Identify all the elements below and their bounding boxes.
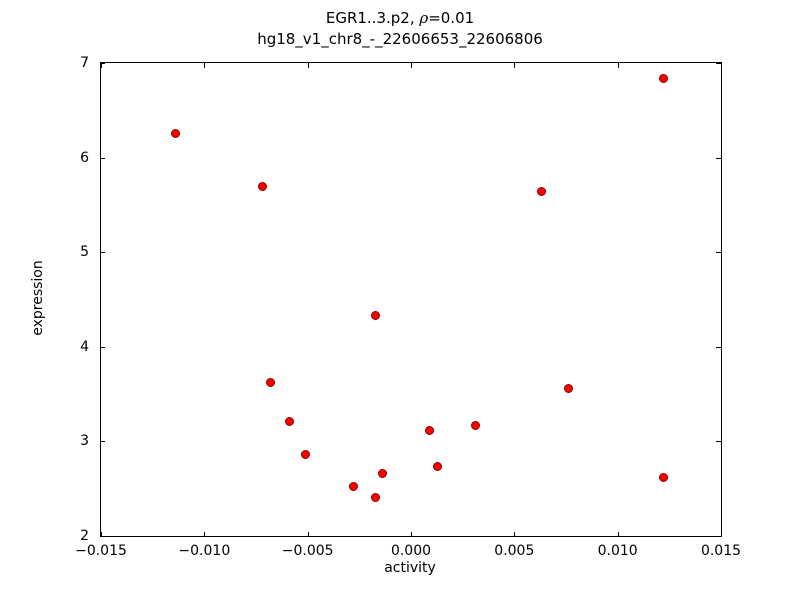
y-axis-tick [100,158,105,159]
x-axis-tick [618,532,619,537]
data-point [433,462,442,471]
y-axis-tick-right [716,536,721,537]
x-axis-label: activity [100,560,720,576]
y-axis-tick-right [716,63,721,64]
data-point [471,421,480,430]
rho-value: =0.01 [428,9,474,27]
x-axis-tick-label: 0.010 [598,543,638,559]
rho-symbol: ρ [419,9,428,27]
y-axis-label: expression [30,260,46,336]
data-point [301,450,310,459]
data-point [349,482,358,491]
x-axis-tick-top [618,63,619,68]
chart-title-line-2: hg18_v1_chr8_-_22606653_22606806 [0,29,800,50]
y-axis-tick [100,347,105,348]
y-axis-tick [100,536,105,537]
y-axis-tick-label: 2 [80,528,89,544]
x-axis-tick-top [308,63,309,68]
x-axis-tick [514,532,515,537]
y-axis-tick-label: 4 [80,339,89,355]
x-axis-tick-label: −0.015 [75,543,127,559]
data-point [564,384,573,393]
data-point [371,493,380,502]
x-axis-tick [204,532,205,537]
scatter-plot-figure: EGR1..3.p2, ρ=0.01 hg18_v1_chr8_-_226066… [0,0,800,600]
x-axis-tick [721,532,722,537]
data-point [659,74,668,83]
x-axis-tick-top [204,63,205,68]
chart-title-prefix: EGR1..3.p2, [326,9,420,27]
data-point [371,311,380,320]
x-axis-tick-label: 0.005 [494,543,534,559]
chart-title: EGR1..3.p2, ρ=0.01 hg18_v1_chr8_-_226066… [0,8,800,50]
y-axis-tick-right [716,252,721,253]
x-axis-tick [308,532,309,537]
y-axis-tick-right [716,347,721,348]
data-point [266,378,275,387]
plot-axes-frame: −0.015−0.010−0.0050.0000.0050.0100.01523… [100,62,722,537]
data-point [171,129,180,138]
data-points-layer [101,63,721,536]
x-axis-tick-top [721,63,722,68]
x-axis-tick-label: −0.005 [282,543,334,559]
x-axis-tick-label: 0.015 [701,543,741,559]
y-axis-tick-label: 5 [80,244,89,260]
x-axis-tick-top [411,63,412,68]
chart-title-line-1: EGR1..3.p2, ρ=0.01 [0,8,800,29]
y-axis-tick-right [716,158,721,159]
x-axis-tick-label: 0.000 [391,543,431,559]
x-axis-tick-top [514,63,515,68]
y-axis-tick [100,252,105,253]
data-point [258,182,267,191]
data-point [378,469,387,478]
data-point [659,473,668,482]
data-point [537,187,546,196]
y-axis-tick-label: 6 [80,150,89,166]
y-axis-tick-label: 3 [80,433,89,449]
y-axis-tick [100,63,105,64]
x-axis-tick-label: −0.010 [178,543,230,559]
x-axis-tick [411,532,412,537]
y-axis-tick-right [716,441,721,442]
y-axis-tick [100,441,105,442]
data-point [425,426,434,435]
y-axis-tick-label: 7 [80,55,89,71]
data-point [285,417,294,426]
